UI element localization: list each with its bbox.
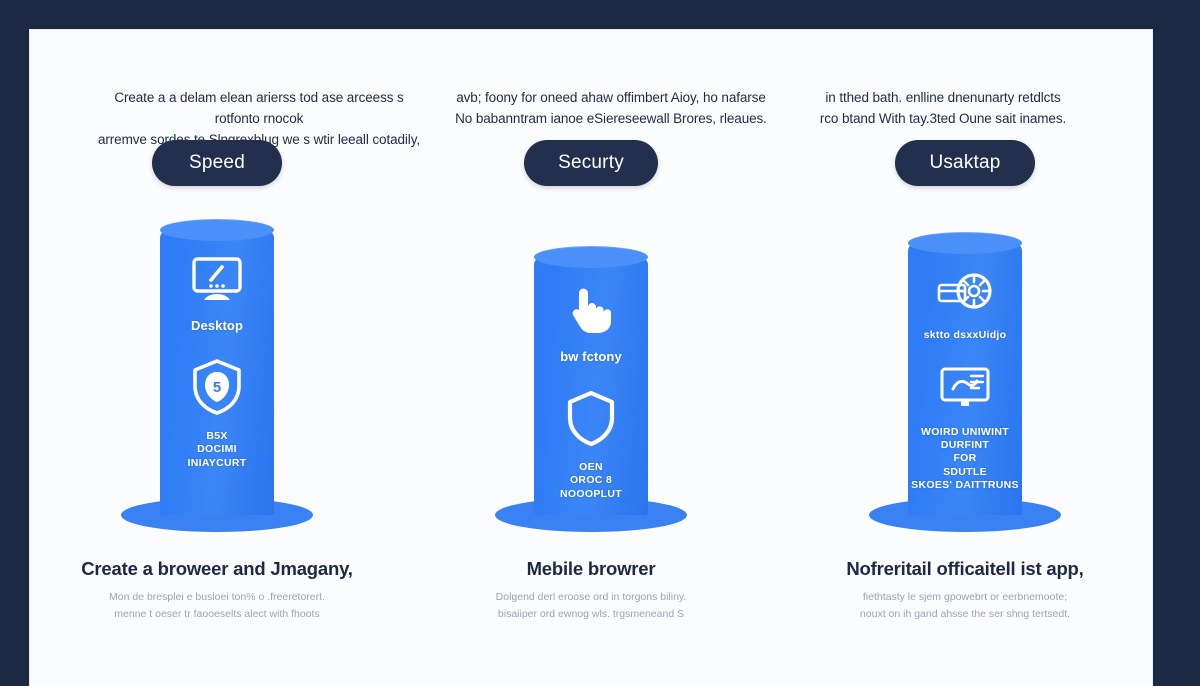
feature-column-speed: Speed: [52, 140, 382, 623]
pointing-hand-cursor-icon: [565, 283, 617, 340]
intro-3-line-1: in tthed bath. enlline dnenunarty retdlc…: [825, 90, 1060, 105]
caption-line: OROC 8: [560, 474, 622, 487]
caption-body-line: Mon de bresplei e busloei ton% o .freere…: [67, 589, 367, 606]
intro-2-line-1: avb; foony for oneed ahaw offimbert Aioy…: [456, 90, 766, 105]
feature-column-usaktap: Usaktap: [800, 140, 1130, 623]
caption-line: Desktop: [191, 318, 243, 334]
caption-body: Dolgend derl eroose ord in torgons bilin…: [441, 589, 741, 623]
caption-body: fiethtasty le sjem gpowebrt or eerbnemoo…: [815, 589, 1115, 623]
feature-caption-speed: Create a broweer and Jmagany, Mon de bre…: [67, 558, 367, 623]
caption-line: B5X: [188, 430, 247, 443]
pillar-icon-block-shield: OEN OROC 8 NOOOPLUT: [560, 389, 622, 500]
caption-body-line: fiethtasty le sjem gpowebrt or eerbnemoo…: [815, 589, 1115, 606]
caption-line: NOOOPLUT: [560, 488, 622, 501]
pillar-icon-caption-cursor: bw fctony: [560, 349, 622, 365]
caption-line: WOIRD UNIWINT: [911, 426, 1019, 439]
caption-body-line: bisaiiper ord ewnog wls. trgsmeneand S: [441, 606, 741, 623]
pillar-icon-block-cursor: bw fctony: [560, 283, 622, 365]
caption-line: FOR: [911, 452, 1019, 465]
pillar-icon-caption-shield: OEN OROC 8 NOOOPLUT: [560, 461, 622, 500]
pillar-body: bw fctony OEN OROC 8: [534, 257, 648, 515]
pillar-icon-block-desktop: Desktop: [189, 256, 245, 334]
feature-caption-security: Mebile browrer Dolgend derl eroose ord i…: [441, 558, 741, 623]
pillar-graphic-usaktap: sktto dsxxUidjo: [840, 222, 1090, 532]
caption-title: Nofreritail officaitell ist app,: [815, 558, 1115, 580]
caption-line: DOCIMI: [188, 443, 247, 456]
intro-2-line-2: No babanntram ianoe eSiereseewall Brores…: [441, 109, 781, 130]
feature-caption-usaktap: Nofreritail officaitell ist app, fiethta…: [815, 558, 1115, 623]
feature-column-security: Securty bw fctony: [426, 140, 756, 623]
pillar-icon-block-shield-check: 5 B5X DOCIMI INIAYCURT: [188, 358, 247, 469]
pillar-graphic-security: bw fctony OEN OROC 8: [466, 222, 716, 532]
pillar-icon-block-gear-card: sktto dsxxUidjo: [924, 269, 1007, 342]
caption-line: INIAYCURT: [188, 457, 247, 470]
caption-line: sktto dsxxUidjo: [924, 329, 1007, 342]
pillar-body: sktto dsxxUidjo: [908, 243, 1022, 515]
caption-line: OEN: [560, 461, 622, 474]
caption-line: SKOES' DAITTRUNS: [911, 479, 1019, 492]
caption-title: Create a broweer and Jmagany,: [67, 558, 367, 580]
shield-check-icon: 5: [189, 358, 245, 421]
caption-body-line: nouxt on ih gand ahsse the ser shng tert…: [815, 606, 1115, 623]
pillar-icon-block-monitor-doc: WOIRD UNIWINT DURFINT FOR SDUTLE SKOES' …: [911, 366, 1019, 492]
caption-line: SDUTLE: [911, 466, 1019, 479]
shield-outline-icon: [564, 389, 618, 452]
caption-body-line: menne t oeser tr faooeselts alect with f…: [67, 606, 367, 623]
monitor-document-icon: [937, 366, 993, 417]
desktop-monitor-icon: [189, 256, 245, 309]
caption-line: bw fctony: [560, 349, 622, 365]
feature-columns: Speed: [30, 140, 1152, 680]
pill-badge-security[interactable]: Securty: [524, 140, 658, 186]
svg-text:5: 5: [213, 379, 221, 396]
pillar-body: Desktop 5: [160, 230, 274, 515]
infographic-card: Create a a delam elean arierss tod ase a…: [30, 30, 1152, 686]
caption-title: Mebile browrer: [441, 558, 741, 580]
caption-body-line: Dolgend derl eroose ord in torgons bilin…: [441, 589, 741, 606]
caption-body: Mon de bresplei e busloei ton% o .freere…: [67, 589, 367, 623]
pillar-graphic-speed: Desktop 5: [92, 222, 342, 532]
pill-badge-speed[interactable]: Speed: [152, 140, 282, 186]
pillar-icon-caption-shield-check: B5X DOCIMI INIAYCURT: [188, 430, 247, 469]
pillar-icon-caption-desktop: Desktop: [191, 318, 243, 334]
pillar-icon-caption-gear-card: sktto dsxxUidjo: [924, 329, 1007, 342]
intro-3-line-2: rco btand With tay.3ted Oune sait inames…: [798, 109, 1088, 130]
pill-badge-usaktap[interactable]: Usaktap: [895, 140, 1034, 186]
gear-card-icon: [936, 269, 994, 320]
caption-line: DURFINT: [911, 439, 1019, 452]
pillar-icon-caption-monitor-doc: WOIRD UNIWINT DURFINT FOR SDUTLE SKOES' …: [911, 426, 1019, 492]
intro-1-line-1: Create a a delam elean arierss tod ase a…: [114, 90, 403, 126]
